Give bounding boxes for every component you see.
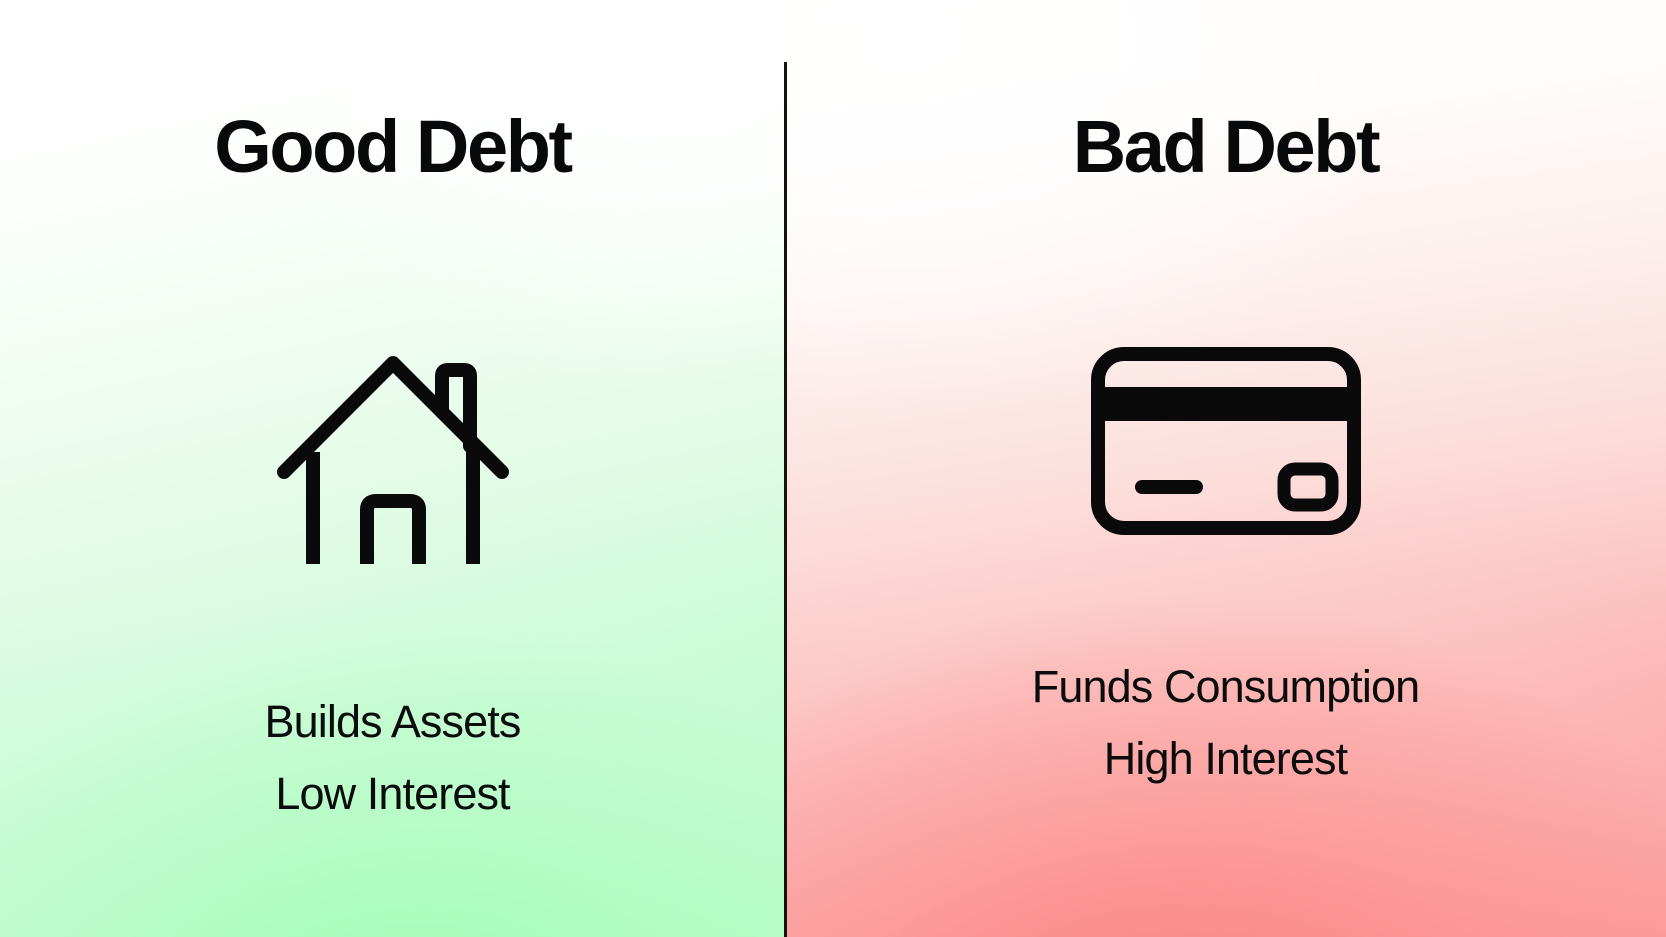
panel-title-bad-debt: Bad Debt xyxy=(1073,110,1379,184)
captions-good-debt: Builds Assets Low Interest xyxy=(265,686,521,831)
panel-title-good-debt: Good Debt xyxy=(214,110,571,184)
captions-bad-debt: Funds Consumption High Interest xyxy=(1032,651,1419,796)
caption-line: Funds Consumption xyxy=(1032,651,1419,723)
caption-line: Builds Assets xyxy=(265,686,521,758)
good-debt-vs-bad-debt-comparison: Good Debt Builds Assets Low Inter xyxy=(0,0,1666,937)
credit-card-icon xyxy=(1090,346,1362,536)
panel-good-debt: Good Debt Builds Assets Low Inter xyxy=(0,0,785,937)
caption-line: High Interest xyxy=(1104,723,1347,795)
vertical-divider xyxy=(784,62,787,937)
panel-bad-debt: Bad Debt Funds Consumption High Interest xyxy=(785,0,1666,937)
caption-line: Low Interest xyxy=(275,758,509,830)
house-icon xyxy=(274,346,512,571)
